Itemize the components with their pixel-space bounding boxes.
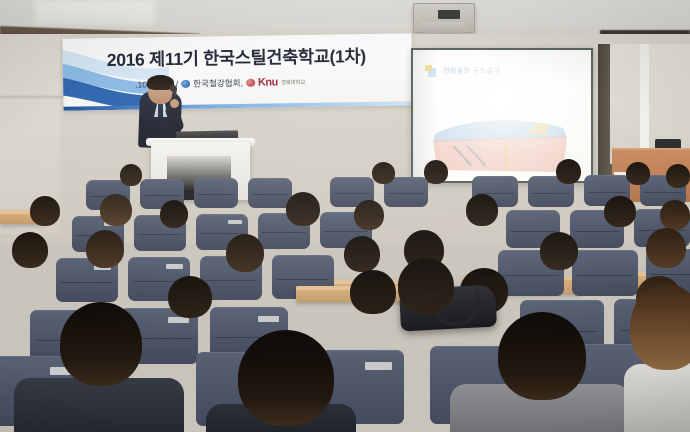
audience-shoulders [624,364,690,432]
projector-lens [438,10,460,19]
ksa-logo-icon [181,80,190,88]
banner-organizer-primary: 한국철강협회, [193,77,243,90]
seat-number-plate [365,362,392,370]
audience-head [398,258,454,314]
audience-shoulders [14,378,184,432]
audience-head [498,312,586,400]
ceiling-projector [413,3,475,33]
audience-head [60,302,142,386]
slide-title: 건축물의 구조설계 [443,66,500,76]
ceiling-light-panel [35,0,155,24]
speaker-tie [158,104,163,120]
booth-wall-stripe [640,44,649,164]
audience-head [238,330,334,426]
speaker-hand [170,99,179,108]
microphone-head [170,85,177,92]
knu-logo-icon [246,79,255,87]
banner-title: 2016 제11기 한국스틸건축학교(1차) [107,42,407,72]
audience-head [630,284,690,370]
event-banner: 2016 제11기 한국스틸건축학교(1차) .10.25(화) / 한국철강협… [62,33,412,110]
lecture-hall-photograph: 2016 제11기 한국스틸건축학교(1차) .10.25(화) / 한국철강협… [0,0,690,432]
knu-wordmark: Knu [258,76,278,88]
knu-university-name: 경북대학교 [281,78,305,86]
